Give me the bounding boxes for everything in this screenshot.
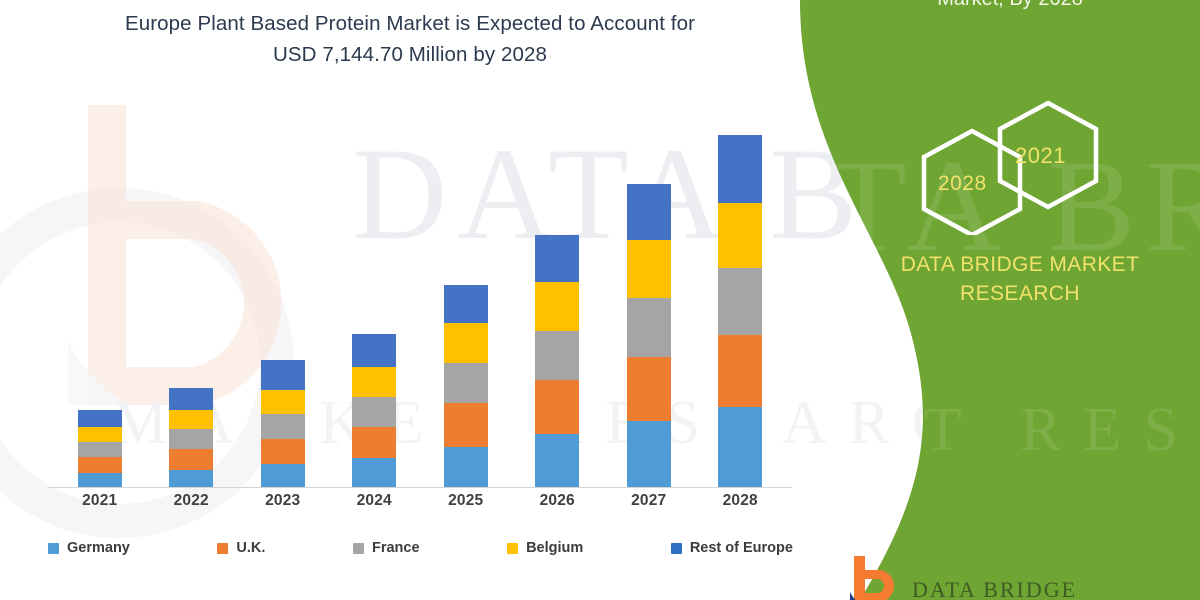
- bar-segment: [352, 427, 396, 458]
- bar-segment: [444, 323, 488, 363]
- legend-label: France: [372, 540, 420, 556]
- bar-column: [55, 101, 145, 487]
- bar-segment: [261, 464, 305, 487]
- bar-segment: [78, 410, 122, 427]
- bar-segment: [261, 414, 305, 439]
- stacked-bar-chart: 20212022202320242025202620272028: [40, 100, 800, 500]
- legend-swatch-icon: [507, 543, 518, 554]
- bar-segment: [169, 410, 213, 429]
- bar-segment: [444, 363, 488, 403]
- bar-segment: [535, 434, 579, 487]
- bar-segment: [169, 449, 213, 470]
- legend-item-rest-of-europe[interactable]: Rest of Europe: [671, 540, 793, 556]
- bar-segment: [261, 439, 305, 464]
- legend-item-belgium[interactable]: Belgium: [507, 540, 583, 556]
- x-axis-tick-2021: 2021: [55, 492, 145, 510]
- x-axis-line: [48, 487, 792, 488]
- bar-segment: [718, 335, 762, 407]
- chart-title-line-1: Europe Plant Based Protein Market is Exp…: [60, 8, 760, 39]
- bar-column: [512, 101, 602, 487]
- bar-segment: [718, 268, 762, 335]
- bar-segment: [78, 427, 122, 442]
- x-axis-tick-2023: 2023: [238, 492, 328, 510]
- svg-text:MARKET RESEARCH: MARKET RESEARCH: [760, 396, 1200, 464]
- stacked-bar-2027[interactable]: [627, 184, 671, 487]
- x-axis-tick-2028: 2028: [695, 492, 785, 510]
- bar-segment: [535, 282, 579, 331]
- stacked-bar-2028[interactable]: [718, 135, 762, 487]
- legend-label: Rest of Europe: [690, 540, 793, 556]
- x-axis-tick-2026: 2026: [512, 492, 602, 510]
- stacked-bar-2022[interactable]: [169, 388, 213, 487]
- bar-segment: [444, 403, 488, 447]
- bar-column: [329, 101, 419, 487]
- x-axis-labels: 20212022202320242025202620272028: [40, 492, 800, 510]
- x-axis-tick-2025: 2025: [421, 492, 511, 510]
- bar-segment: [444, 447, 488, 487]
- bar-segment: [169, 429, 213, 449]
- bar-segment: [261, 360, 305, 390]
- x-axis-tick-2027: 2027: [604, 492, 694, 510]
- bar-segment: [627, 184, 671, 240]
- green-panel: DATA BRIDGE MARKET RESEARCH Market, By 2…: [760, 0, 1200, 600]
- bar-segment: [78, 442, 122, 457]
- chart-title-line-2: USD 7,144.70 Million by 2028: [60, 39, 760, 70]
- bar-segment: [535, 380, 579, 434]
- bar-segment: [78, 473, 122, 487]
- bar-segment: [627, 357, 671, 421]
- bar-segment: [169, 388, 213, 410]
- bar-segment: [535, 235, 579, 282]
- bar-segment: [444, 285, 488, 323]
- legend-item-u-k[interactable]: U.K.: [217, 540, 265, 556]
- bar-segment: [261, 390, 305, 414]
- bar-segment: [718, 407, 762, 487]
- legend-item-germany[interactable]: Germany: [48, 540, 130, 556]
- green-panel-shape: DATA BRIDGE MARKET RESEARCH: [760, 0, 1200, 600]
- bar-column: [695, 101, 785, 487]
- stacked-bar-2023[interactable]: [261, 360, 305, 487]
- legend-swatch-icon: [671, 543, 682, 554]
- bar-segment: [627, 298, 671, 357]
- chart-title: Europe Plant Based Protein Market is Exp…: [60, 8, 760, 70]
- legend-swatch-icon: [353, 543, 364, 554]
- bar-segment: [352, 367, 396, 397]
- stacked-bar-2021[interactable]: [78, 410, 122, 487]
- legend-swatch-icon: [48, 543, 59, 554]
- stacked-bar-2024[interactable]: [352, 334, 396, 487]
- bar-segment: [78, 457, 122, 473]
- legend-label: Belgium: [526, 540, 583, 556]
- bar-segment: [352, 458, 396, 487]
- bar-segment: [718, 135, 762, 203]
- bar-segment: [352, 397, 396, 427]
- legend-label: U.K.: [236, 540, 265, 556]
- bar-segment: [627, 421, 671, 487]
- legend-swatch-icon: [217, 543, 228, 554]
- bar-group: [40, 101, 800, 487]
- bar-column: [238, 101, 328, 487]
- bar-segment: [352, 334, 396, 367]
- x-axis-tick-2022: 2022: [146, 492, 236, 510]
- svg-text:DATA BRIDGE: DATA BRIDGE: [760, 132, 1200, 279]
- x-axis-tick-2024: 2024: [329, 492, 419, 510]
- bar-segment: [718, 203, 762, 268]
- bar-column: [146, 101, 236, 487]
- bar-column: [604, 101, 694, 487]
- bar-segment: [169, 470, 213, 487]
- plot-area: [40, 100, 800, 488]
- bar-segment: [627, 240, 671, 298]
- bar-segment: [535, 331, 579, 380]
- infographic-root: DATA BRIDGE MARKET RESEARCH DATA BRIDGE …: [0, 0, 1200, 600]
- stacked-bar-2025[interactable]: [444, 285, 488, 487]
- stacked-bar-2026[interactable]: [535, 235, 579, 487]
- bar-column: [421, 101, 511, 487]
- chart-legend: GermanyU.K.FranceBelgiumRest of Europe: [48, 540, 793, 556]
- legend-label: Germany: [67, 540, 130, 556]
- legend-item-france[interactable]: France: [353, 540, 420, 556]
